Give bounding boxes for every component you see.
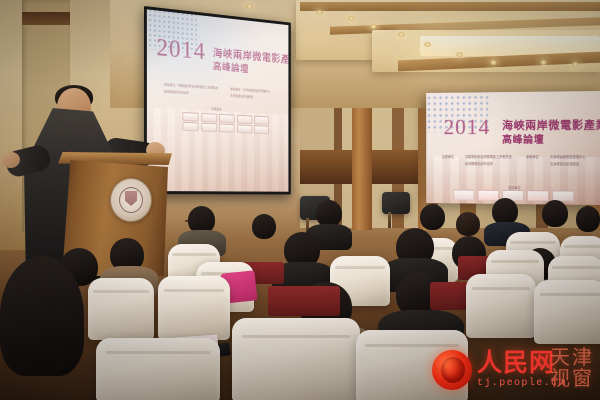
screen-sponsor-logo (219, 124, 235, 133)
audience-head-far-6 (492, 198, 518, 225)
audience-chair-r2-1 (88, 278, 154, 340)
banner-credit-right-text2: 天津電視台影視頻道 (550, 161, 579, 166)
screen-title-line2: 高峰論壇 (213, 58, 249, 75)
chair-back-red-3 (268, 286, 340, 316)
audience-head-far-8 (576, 206, 600, 232)
downlight-9 (572, 62, 579, 67)
banner-credit-left-text2: 臺灣微電影創作協會 (465, 161, 493, 166)
downlight-10 (246, 4, 253, 9)
audience-chair-r1-1 (232, 318, 360, 400)
downlight-4 (398, 32, 405, 37)
chair-fold (93, 290, 148, 293)
audience-chair-r1-3 (356, 330, 468, 400)
eyeglasses-icon (313, 212, 323, 214)
chair-fold (540, 293, 600, 296)
screen-credit-right: 承辦單位：天津視窗微電影發展中心 (230, 87, 270, 94)
banner-sponsor-logo (478, 190, 500, 201)
screen-year: 2014 (156, 34, 205, 66)
screen-sponsor-logo (254, 116, 269, 125)
audience-chair-r1-2 (96, 338, 220, 400)
chair-fold (564, 245, 600, 248)
audience-head-far-5 (456, 212, 480, 236)
banner-sponsor-logo (527, 190, 549, 201)
chair-fold (491, 260, 540, 263)
downlight-7 (490, 60, 497, 65)
ceiling-beam-1 (300, 2, 600, 11)
audience-head-far-7 (542, 200, 568, 227)
screen-sponsor-logo (219, 114, 235, 123)
downlight-5 (424, 42, 431, 47)
left-wall-trim (22, 12, 70, 25)
side-chair-leg-3 (388, 212, 391, 228)
chair-fold (106, 351, 210, 354)
screen-sponsor-logo (237, 124, 252, 133)
chair-fold (552, 266, 599, 269)
screen-sponsor-logo (182, 122, 198, 131)
downlight-8 (540, 60, 547, 65)
screen-sponsor-logo (237, 115, 252, 124)
audience-chair-r2-2 (158, 276, 230, 340)
banner-credit-right-text: 天津視窗微電影發展中心 (550, 154, 586, 159)
screen-sponsor-logo (182, 112, 198, 122)
screen-sponsor-logo (254, 125, 269, 134)
screen-sponsor-label: 支持單位 (211, 107, 222, 111)
banner-year: 2014 (443, 114, 490, 140)
chair-fold (472, 287, 531, 290)
audience-head-far-4 (420, 204, 445, 230)
banner-credit-right-label: 承辦單位 (526, 154, 539, 159)
downlight-2 (348, 16, 355, 21)
audience-chair-r2-3 (466, 274, 536, 338)
chair-fold (242, 335, 350, 338)
conference-hall-photo: 2014 海峽兩岸微電影產業發展 高峰論壇 主辦單位：中國電影家協會微電影工作委… (0, 0, 600, 400)
screen-credit-right2: 天津電視台影視頻道 (230, 94, 253, 99)
institutional-seal-icon (110, 178, 152, 222)
chair-fold (172, 253, 216, 256)
event-banner: 2014 海峽兩岸微電影產業發展 高峰論壇 主辦單位 中國電影家協會微電影工作委… (426, 91, 600, 205)
audience-head-foreground-1 (0, 256, 84, 376)
banner-credit-left-label: 主辦單位 (442, 154, 454, 159)
chair-fold (365, 344, 459, 347)
eyeglasses-icon (185, 220, 194, 222)
screen-credit-left2: 臺灣微電影創作協會 (164, 89, 189, 95)
chair-fold (510, 241, 555, 244)
projection-screen: 2014 海峽兩岸微電影產業發展 高峰論壇 主辦單位：中國電影家協會微電影工作委… (144, 6, 291, 194)
downlight-3 (370, 24, 377, 29)
downlight-6 (456, 52, 463, 57)
banner-credit-left-text: 中國電影家協會微電影工作委員會 (465, 154, 512, 159)
banner-sponsor-logo (453, 189, 474, 200)
screen-sponsor-logo (201, 123, 217, 132)
chair-fold (335, 266, 385, 269)
downlight-1 (316, 10, 323, 15)
audience-head-far-3 (252, 214, 276, 239)
side-chair-back-2 (382, 192, 410, 214)
chair-fold (164, 289, 225, 292)
audience-chair-r2-4 (534, 280, 600, 344)
banner-title-line2: 高峰論壇 (502, 131, 544, 146)
screen-sponsor-logo (201, 113, 217, 122)
